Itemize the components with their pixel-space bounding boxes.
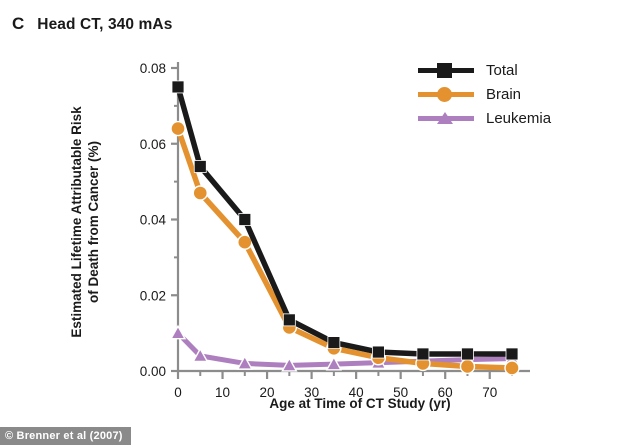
data-point-marker (506, 348, 518, 360)
data-point-marker (238, 235, 252, 249)
data-point-marker (172, 81, 184, 93)
legend-key-leukemia-icon (418, 109, 474, 127)
y-axis-tick-label: 0.00 (140, 364, 166, 379)
data-point-marker (171, 326, 185, 339)
data-point-marker (372, 346, 384, 358)
y-axis-tick-label: 0.08 (140, 61, 166, 76)
legend-marker-triangle-icon (437, 112, 453, 124)
legend-item-brain[interactable]: Brain (418, 82, 551, 106)
legend-label: Total (486, 62, 518, 79)
legend-marker-square-icon (437, 63, 452, 78)
data-point-marker (194, 160, 206, 172)
data-point-marker (171, 122, 185, 136)
legend-key-total-icon (418, 61, 474, 79)
data-point-marker (193, 186, 207, 200)
x-axis-tick-label: 30 (304, 385, 319, 400)
data-point-marker (460, 359, 474, 373)
watermark-credit: © Brenner et al (2007) (0, 427, 131, 445)
figure-panel-c: C Head CT, 340 mAs Estimated Lifetime At… (0, 0, 634, 448)
chart-legend: TotalBrainLeukemia (418, 58, 551, 130)
data-point-marker (239, 214, 251, 226)
y-axis-tick-label: 0.06 (140, 137, 166, 152)
legend-label: Leukemia (486, 110, 551, 127)
x-axis-tick-label: 0 (174, 385, 182, 400)
x-axis-tick-label: 20 (260, 385, 275, 400)
x-axis-tick-label: 40 (349, 385, 364, 400)
series-brain (171, 122, 519, 375)
legend-item-leukemia[interactable]: Leukemia (418, 106, 551, 130)
data-point-marker (461, 348, 473, 360)
data-point-marker (283, 314, 295, 326)
legend-key-brain-icon (418, 85, 474, 103)
x-axis-tick-label: 10 (215, 385, 230, 400)
data-point-marker (328, 337, 340, 349)
data-point-marker (505, 361, 519, 375)
x-axis-tick-label: 50 (393, 385, 408, 400)
legend-marker-circle-icon (437, 87, 452, 102)
data-point-marker (417, 348, 429, 360)
series-line (178, 129, 512, 368)
y-axis-tick-label: 0.02 (140, 288, 166, 303)
legend-item-total[interactable]: Total (418, 58, 551, 82)
legend-label: Brain (486, 86, 521, 103)
y-axis-tick-label: 0.04 (140, 213, 167, 228)
x-axis-tick-label: 60 (438, 385, 453, 400)
x-axis-tick-label: 70 (482, 385, 497, 400)
